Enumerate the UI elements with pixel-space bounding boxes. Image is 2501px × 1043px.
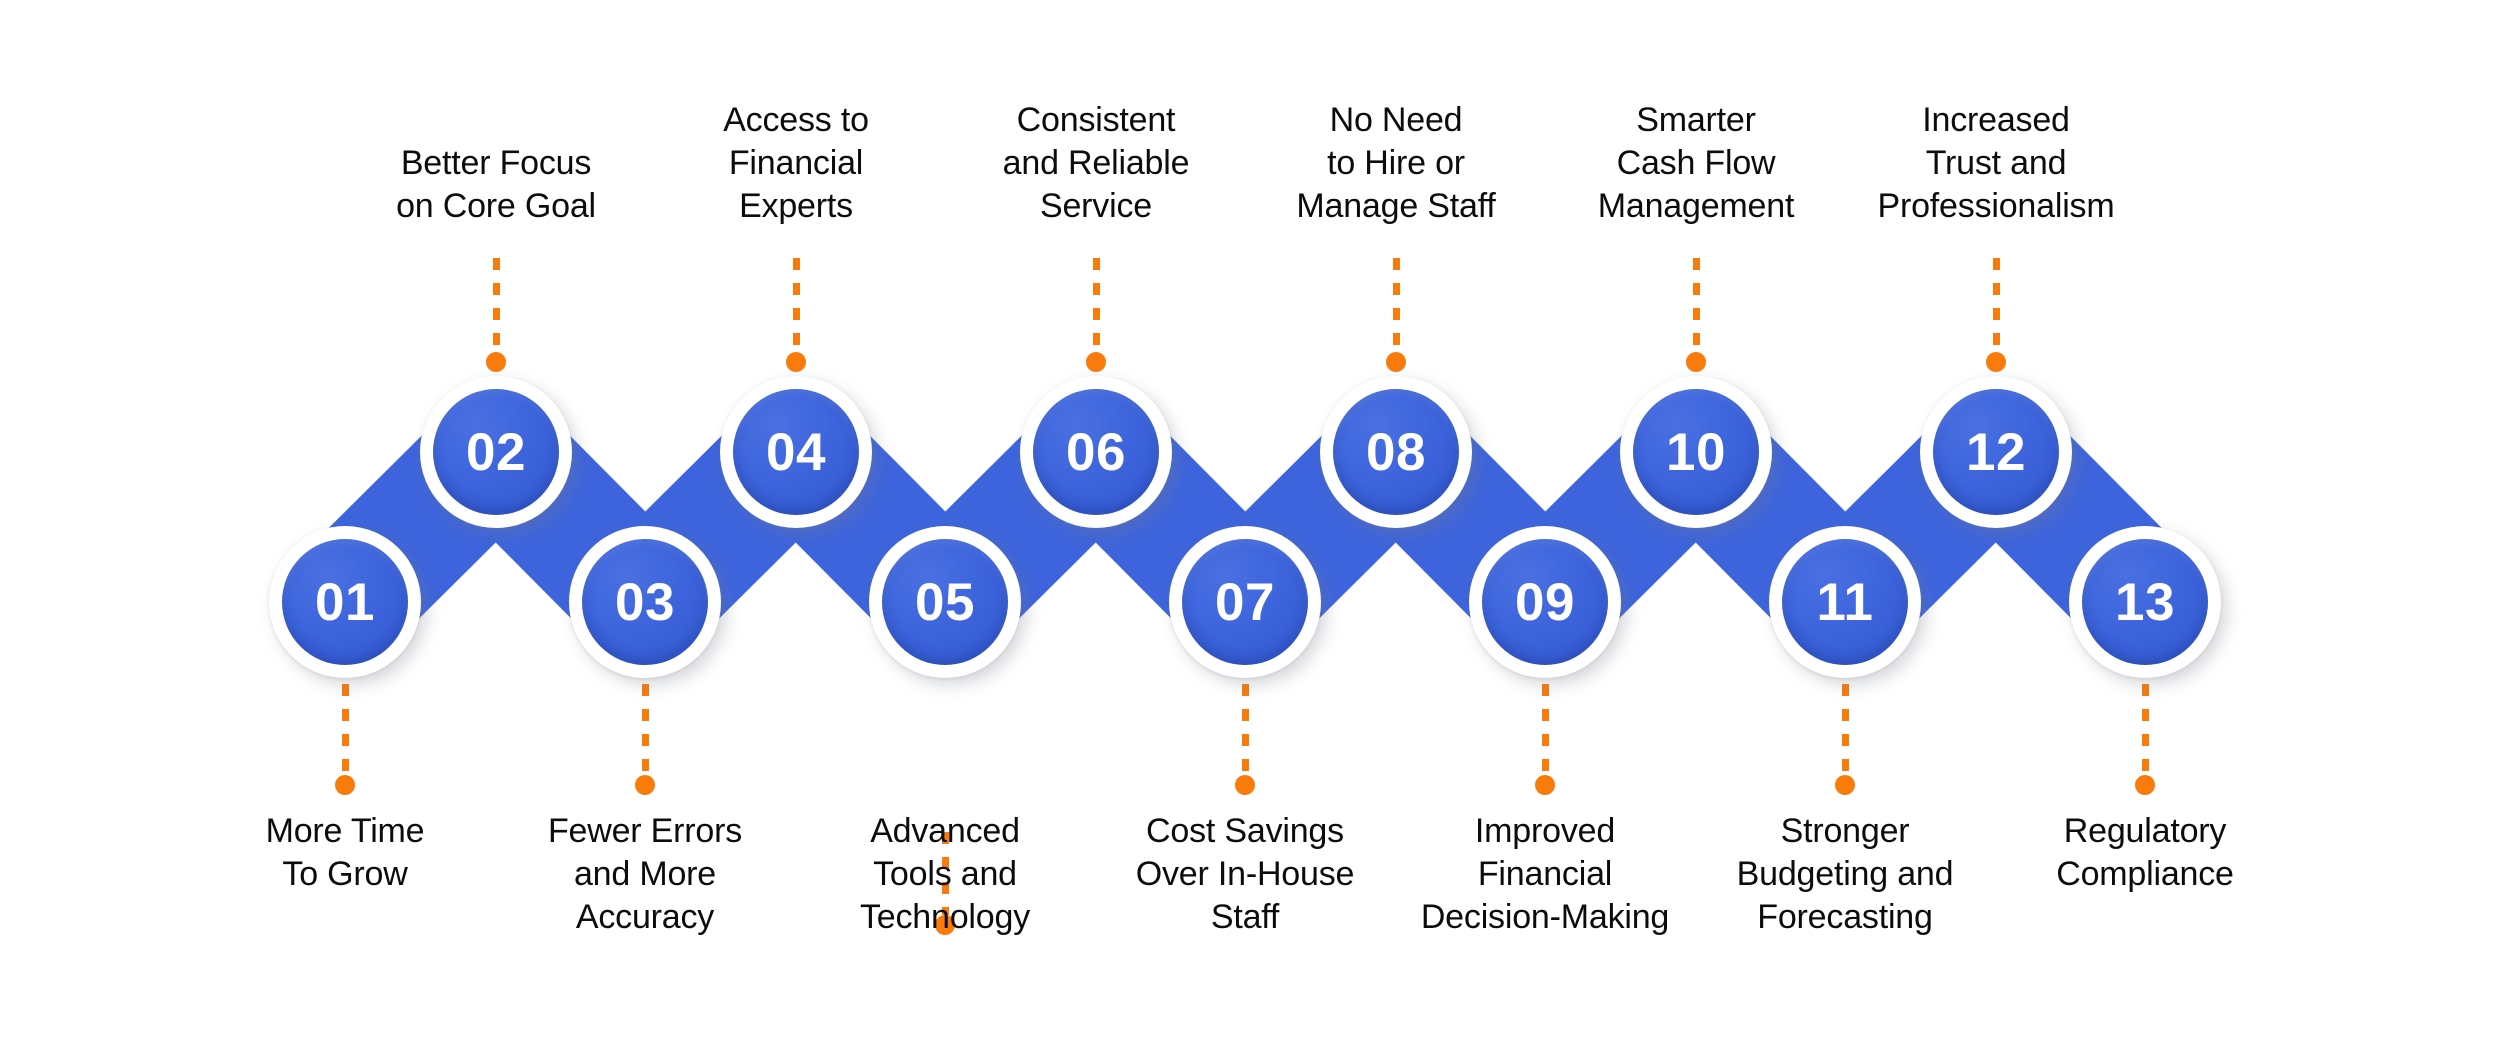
step-node-disc: 12 [1933,389,2059,515]
step-caption-01: More Time To Grow [195,810,495,896]
step-node-disc: 13 [2082,539,2208,665]
dashed-line-segment [1093,258,1100,352]
leader-line-11 [1835,684,1855,795]
leader-line-10 [1686,258,1706,372]
leader-line-02 [486,258,506,372]
step-node-disc: 08 [1333,389,1459,515]
step-node-07[interactable]: 07 [1169,526,1321,678]
step-number-label: 12 [1966,426,2026,479]
step-number-label: 10 [1666,426,1726,479]
step-node-disc: 09 [1482,539,1608,665]
step-caption-11: Stronger Budgeting and Forecasting [1695,810,1995,938]
leader-end-dot [786,352,806,372]
leader-end-dot [1835,775,1855,795]
step-node-03[interactable]: 03 [569,526,721,678]
leader-end-dot [2135,775,2155,795]
leader-line-03 [635,684,655,795]
leader-end-dot [335,775,355,795]
step-number-label: 06 [1066,426,1126,479]
step-caption-02: Better Focus on Core Goal [346,142,646,228]
step-caption-03: Fewer Errors and More Accuracy [495,810,795,938]
dashed-line-segment [342,684,349,775]
step-node-13[interactable]: 13 [2069,526,2221,678]
dashed-line-segment [1542,684,1549,775]
dashed-line-segment [1393,258,1400,352]
step-caption-10: Smarter Cash Flow Management [1546,99,1846,227]
step-node-disc: 03 [582,539,708,665]
step-number-label: 05 [915,576,975,629]
leader-line-01 [335,684,355,795]
step-caption-08: No Need to Hire or Manage Staff [1246,99,1546,227]
leader-end-dot [1386,352,1406,372]
step-number-label: 07 [1215,576,1275,629]
step-node-disc: 01 [282,539,408,665]
dashed-line-segment [642,684,649,775]
step-number-label: 08 [1366,426,1426,479]
step-node-disc: 02 [433,389,559,515]
step-caption-07: Cost Savings Over In-House Staff [1095,810,1395,938]
step-node-disc: 10 [1633,389,1759,515]
leader-end-dot [486,352,506,372]
leader-end-dot [1086,352,1106,372]
step-node-11[interactable]: 11 [1769,526,1921,678]
leader-line-06 [1086,258,1106,372]
step-caption-12: Increased Trust and Professionalism [1846,99,2146,227]
step-node-disc: 11 [1782,539,1908,665]
leader-line-13 [2135,684,2155,795]
leader-end-dot [1535,775,1555,795]
step-caption-04: Access to Financial Experts [646,99,946,227]
step-node-disc: 06 [1033,389,1159,515]
step-node-01[interactable]: 01 [269,526,421,678]
step-node-04[interactable]: 04 [720,376,872,528]
dashed-line-segment [2142,684,2149,775]
step-node-05[interactable]: 05 [869,526,1021,678]
infographic-canvas: More Time To GrowBetter Focus on Core Go… [0,0,2501,1043]
step-number-label: 13 [2115,576,2175,629]
step-node-09[interactable]: 09 [1469,526,1621,678]
step-number-label: 11 [1816,576,1873,629]
leader-end-dot [1986,352,2006,372]
dashed-line-segment [1242,684,1249,775]
dashed-line-segment [493,258,500,352]
step-caption-09: Improved Financial Decision-Making [1395,810,1695,938]
leader-line-08 [1386,258,1406,372]
step-caption-05: Advanced Tools and Technology [795,810,1095,938]
leader-line-04 [786,258,806,372]
step-node-disc: 05 [882,539,1008,665]
dashed-line-segment [1842,684,1849,775]
leader-line-12 [1986,258,2006,372]
step-node-08[interactable]: 08 [1320,376,1472,528]
step-node-10[interactable]: 10 [1620,376,1772,528]
step-node-12[interactable]: 12 [1920,376,2072,528]
step-node-disc: 07 [1182,539,1308,665]
dashed-line-segment [793,258,800,352]
dashed-line-segment [1693,258,1700,352]
leader-end-dot [635,775,655,795]
leader-end-dot [1235,775,1255,795]
step-number-label: 03 [615,576,675,629]
step-number-label: 09 [1515,576,1575,629]
step-number-label: 02 [466,426,526,479]
step-node-06[interactable]: 06 [1020,376,1172,528]
step-caption-06: Consistent and Reliable Service [946,99,1246,227]
leader-end-dot [1686,352,1706,372]
step-caption-13: Regulatory Compliance [1995,810,2295,896]
step-node-02[interactable]: 02 [420,376,572,528]
step-number-label: 01 [315,576,375,629]
step-number-label: 04 [766,426,826,479]
leader-line-07 [1235,684,1255,795]
dashed-line-segment [1993,258,2000,352]
leader-line-09 [1535,684,1555,795]
step-node-disc: 04 [733,389,859,515]
